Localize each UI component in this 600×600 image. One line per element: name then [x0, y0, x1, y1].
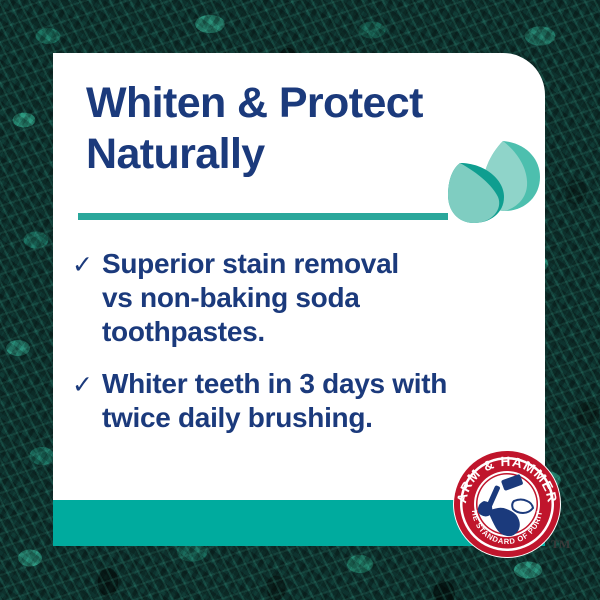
- check-icon: ✓: [69, 371, 102, 399]
- list-item-label: Whiter teeth in 3 days with twice daily …: [102, 367, 447, 435]
- title-divider: [78, 213, 448, 220]
- mint-leaves-icon: [448, 139, 544, 224]
- list-item: ✓ Whiter teeth in 3 days with twice dail…: [69, 367, 535, 435]
- arm-and-hammer-logo: ARM & HAMMER THE STANDARD OF PURITY: [452, 449, 562, 559]
- trademark-symbol: TM: [551, 537, 570, 552]
- list-item: ✓ Superior stain removal vs non-baking s…: [69, 247, 535, 349]
- promo-card-canvas: Whiten & Protect Naturally ✓ Superior st…: [0, 0, 600, 600]
- benefits-list: ✓ Superior stain removal vs non-baking s…: [69, 247, 535, 453]
- check-icon: ✓: [69, 251, 102, 279]
- list-item-label: Superior stain removal vs non-baking sod…: [102, 247, 399, 349]
